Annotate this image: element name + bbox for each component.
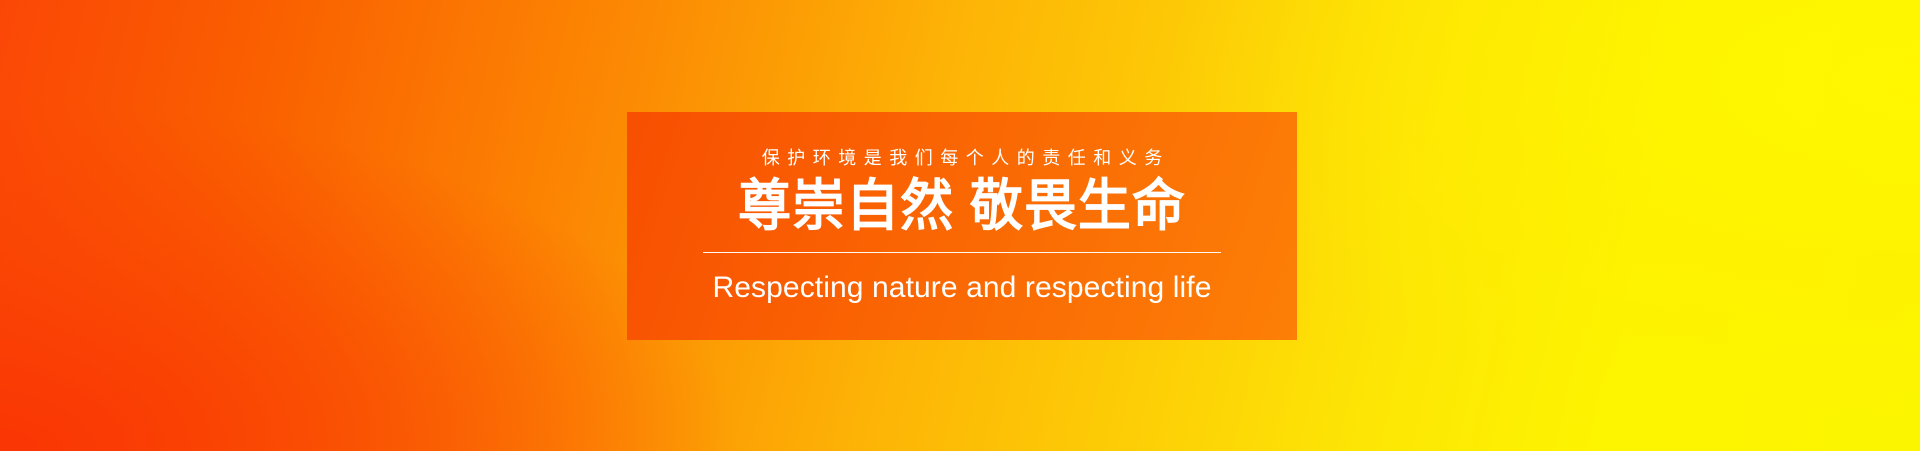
banner-subtitle-english: Respecting nature and respecting life <box>712 273 1211 303</box>
slogan-text-block: 保护环境是我们每个人的责任和义务 尊崇自然 敬畏生命 Respecting na… <box>627 149 1297 302</box>
horizontal-divider <box>703 252 1221 253</box>
banner-headline-chinese: 尊崇自然 敬畏生命 <box>738 178 1186 236</box>
slogan-panel: 保护环境是我们每个人的责任和义务 尊崇自然 敬畏生命 Respecting na… <box>627 112 1297 340</box>
environment-slogan-banner: 保护环境是我们每个人的责任和义务 尊崇自然 敬畏生命 Respecting na… <box>0 0 1920 451</box>
banner-subtitle-chinese: 保护环境是我们每个人的责任和义务 <box>754 149 1170 167</box>
